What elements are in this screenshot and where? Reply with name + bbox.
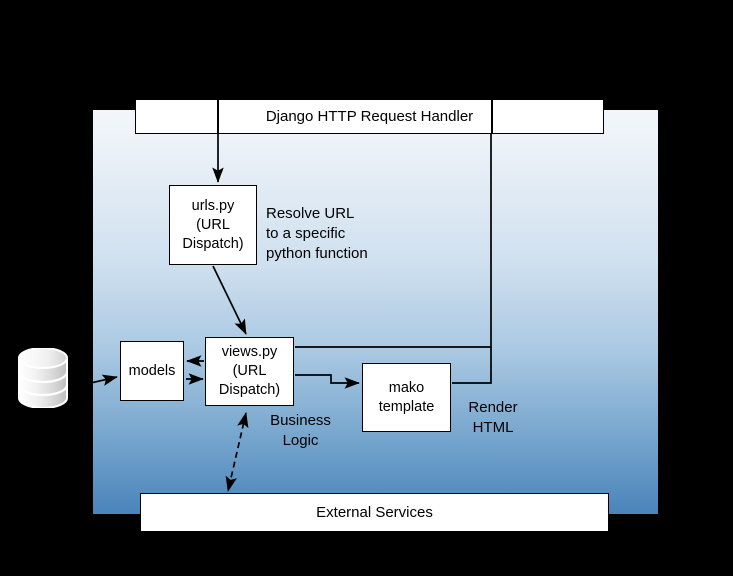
- node-urls-py[interactable]: urls.py (URL Dispatch): [169, 185, 257, 265]
- node-external-services[interactable]: External Services: [140, 493, 609, 532]
- annotation-render-html: Render HTML: [458, 398, 528, 438]
- annotation-resolve-url: Resolve URL to a specific python functio…: [266, 204, 381, 264]
- node-models[interactable]: models: [120, 341, 184, 401]
- database-cylinder-icon: [16, 348, 70, 408]
- node-django-http-request-handler[interactable]: Django HTTP Request Handler: [135, 99, 604, 134]
- django-bar-divider-left: [217, 99, 219, 134]
- diagram-canvas: Django HTTP Request Handler urls.py (URL…: [0, 0, 733, 576]
- node-views-py[interactable]: views.py (URL Dispatch): [205, 337, 294, 406]
- annotation-business-logic: Business Logic: [258, 411, 343, 451]
- node-mako-template[interactable]: mako template: [362, 363, 451, 432]
- django-bar-divider-right: [491, 99, 493, 134]
- background-gradient-panel: [93, 110, 658, 514]
